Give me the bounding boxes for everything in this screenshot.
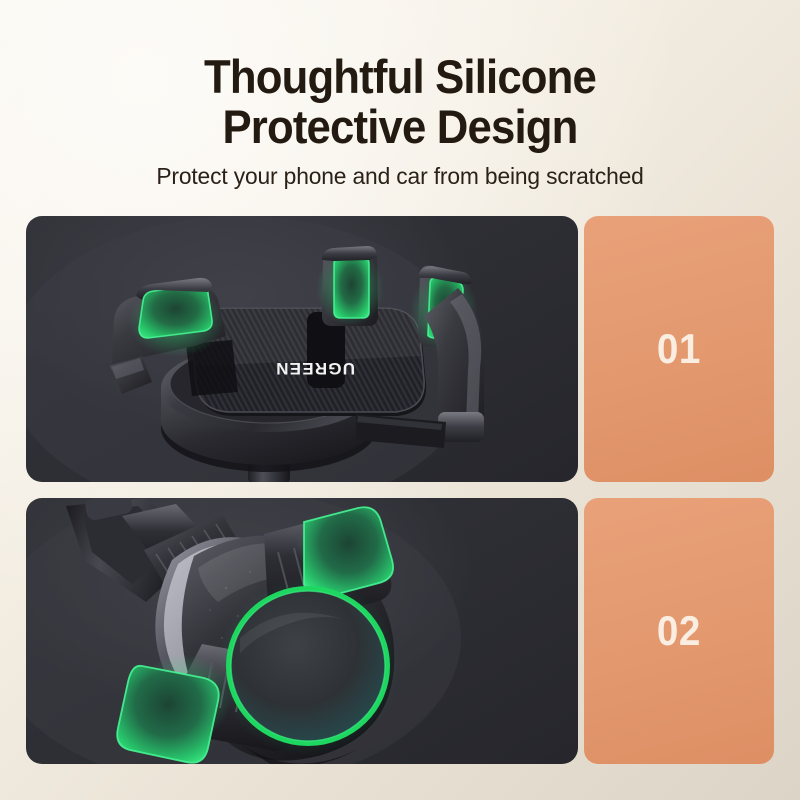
feature-row-1: UGREEN — [26, 216, 774, 482]
header: Thoughtful Silicone Protective Design Pr… — [0, 0, 800, 190]
product-photo-vent-clip — [26, 498, 578, 764]
feature-row-2: 02 — [26, 498, 774, 764]
step-badge-01: 01 — [584, 216, 774, 482]
brand-logo-text: UGREEN — [275, 359, 355, 378]
product-feature-page: Thoughtful Silicone Protective Design Pr… — [0, 0, 800, 800]
product-photo-cradle: UGREEN — [26, 216, 578, 482]
page-subtitle: Protect your phone and car from being sc… — [12, 152, 788, 190]
badge-number: 01 — [657, 325, 701, 373]
badge-number: 02 — [657, 607, 701, 655]
step-badge-02: 02 — [584, 498, 774, 764]
page-title: Thoughtful Silicone Protective Design — [28, 0, 772, 152]
